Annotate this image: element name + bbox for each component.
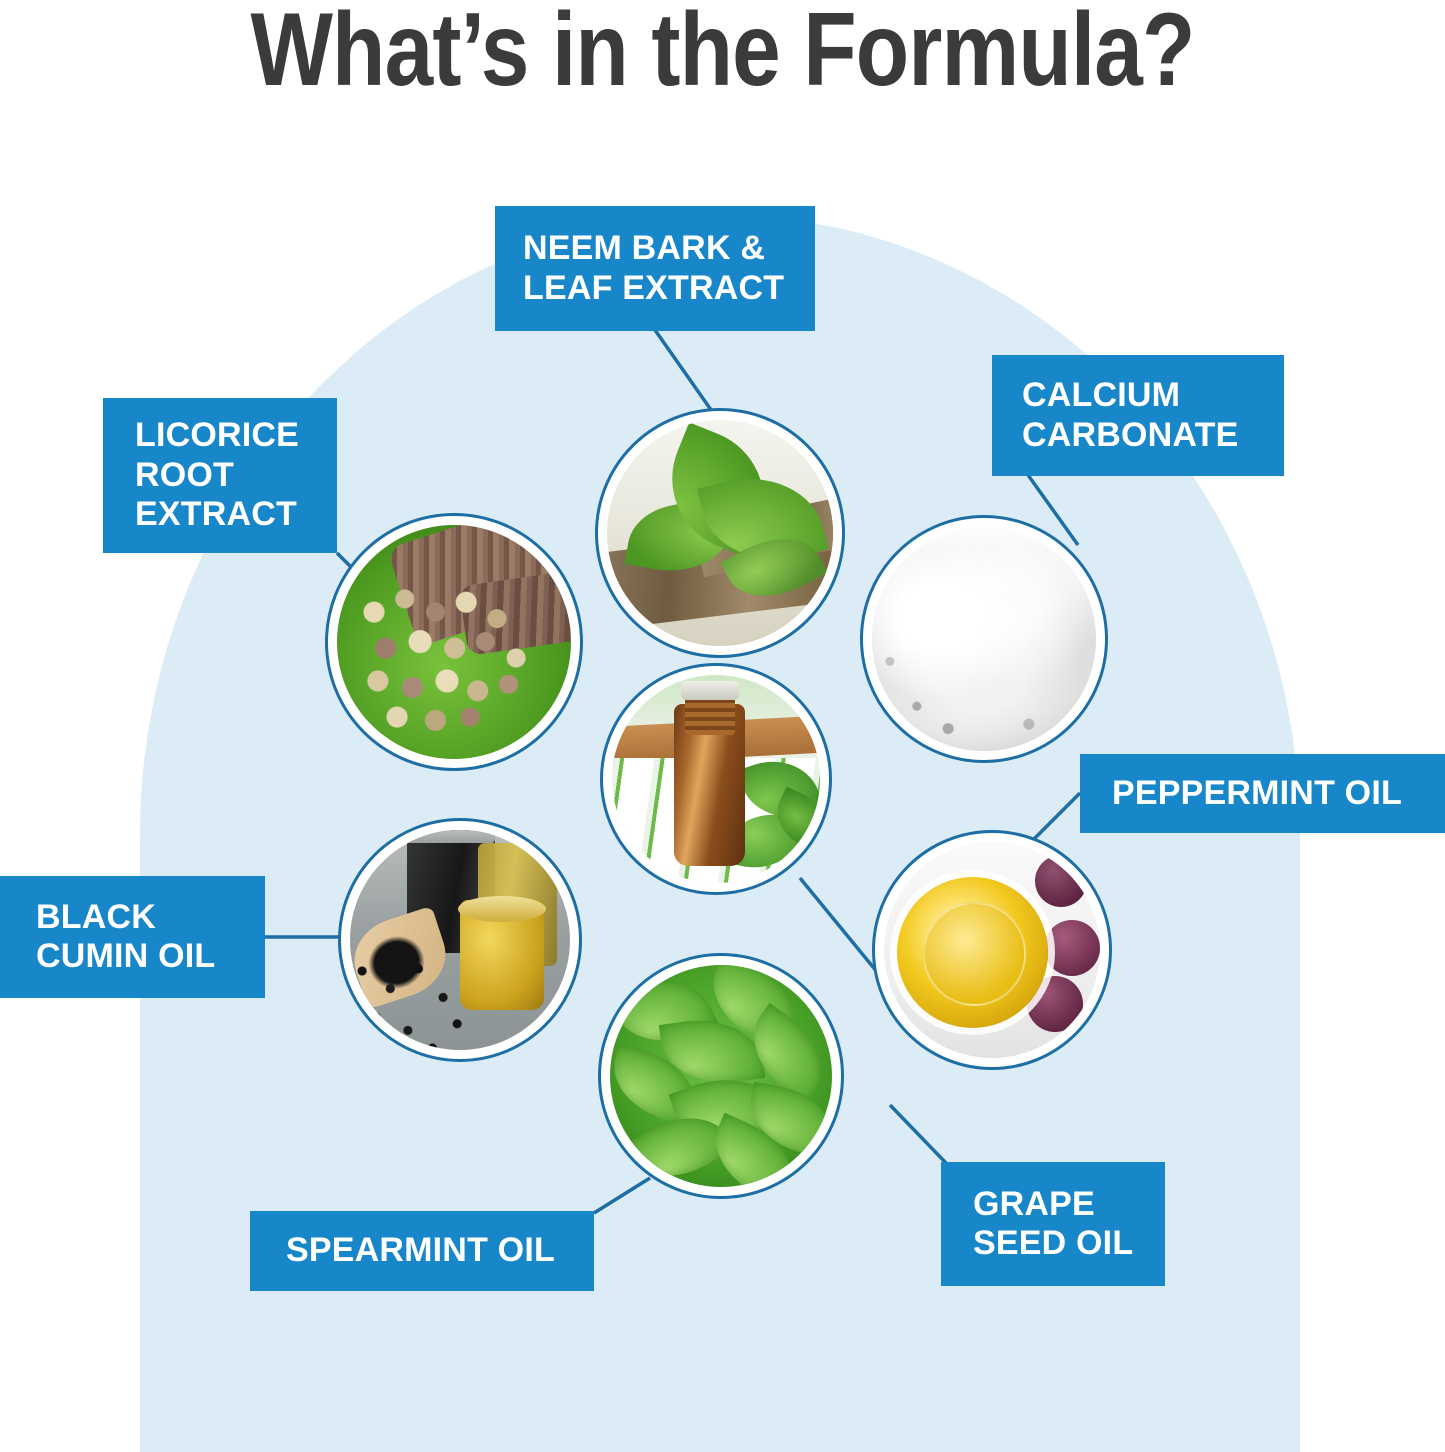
ingredient-label-black-cumin-oil[interactable]: BLACK CUMIN OIL — [0, 876, 265, 998]
ingredient-label-spearmint-oil[interactable]: SPEARMINT OIL — [250, 1211, 594, 1291]
ingredient-circle-calcium-carbonate[interactable] — [860, 515, 1108, 763]
connector-spearmint-oil — [594, 1178, 650, 1213]
grape-seed-oil-bowl-photo — [884, 842, 1100, 1058]
spearmint-leaves-photo — [610, 965, 832, 1187]
connector-neem — [655, 330, 716, 417]
ingredient-circle-spearmint-oil[interactable] — [598, 953, 844, 1199]
ingredient-label-calcium-carbonate[interactable]: CALCIUM CARBONATE — [992, 355, 1284, 476]
connector-grape-seed-oil — [890, 1105, 946, 1163]
ingredient-circle-peppermint-oil[interactable] — [600, 663, 832, 895]
licorice-root-chips-photo — [337, 525, 571, 759]
ingredient-label-peppermint-oil[interactable]: PEPPERMINT OIL — [1080, 754, 1445, 833]
calcium-carbonate-powder-photo — [872, 527, 1096, 751]
neem-bark-and-leaf-photo — [607, 420, 833, 646]
ingredient-label-grape-seed-oil[interactable]: GRAPE SEED OIL — [941, 1162, 1165, 1286]
black-cumin-seeds-and-oil-photo — [350, 830, 570, 1050]
infographic-canvas: What’s in the Formula? — [0, 0, 1445, 1452]
ingredient-label-licorice-root[interactable]: LICORICE ROOT EXTRACT — [103, 398, 337, 553]
ingredient-circle-licorice-root[interactable] — [325, 513, 583, 771]
peppermint-oil-bottle-photo — [612, 675, 820, 883]
ingredient-circle-neem[interactable] — [595, 408, 845, 658]
ingredient-circle-black-cumin-oil[interactable] — [338, 818, 582, 1062]
ingredient-label-neem[interactable]: NEEM BARK & LEAF EXTRACT — [495, 206, 815, 331]
ingredient-circle-grape-seed-oil[interactable] — [872, 830, 1112, 1070]
